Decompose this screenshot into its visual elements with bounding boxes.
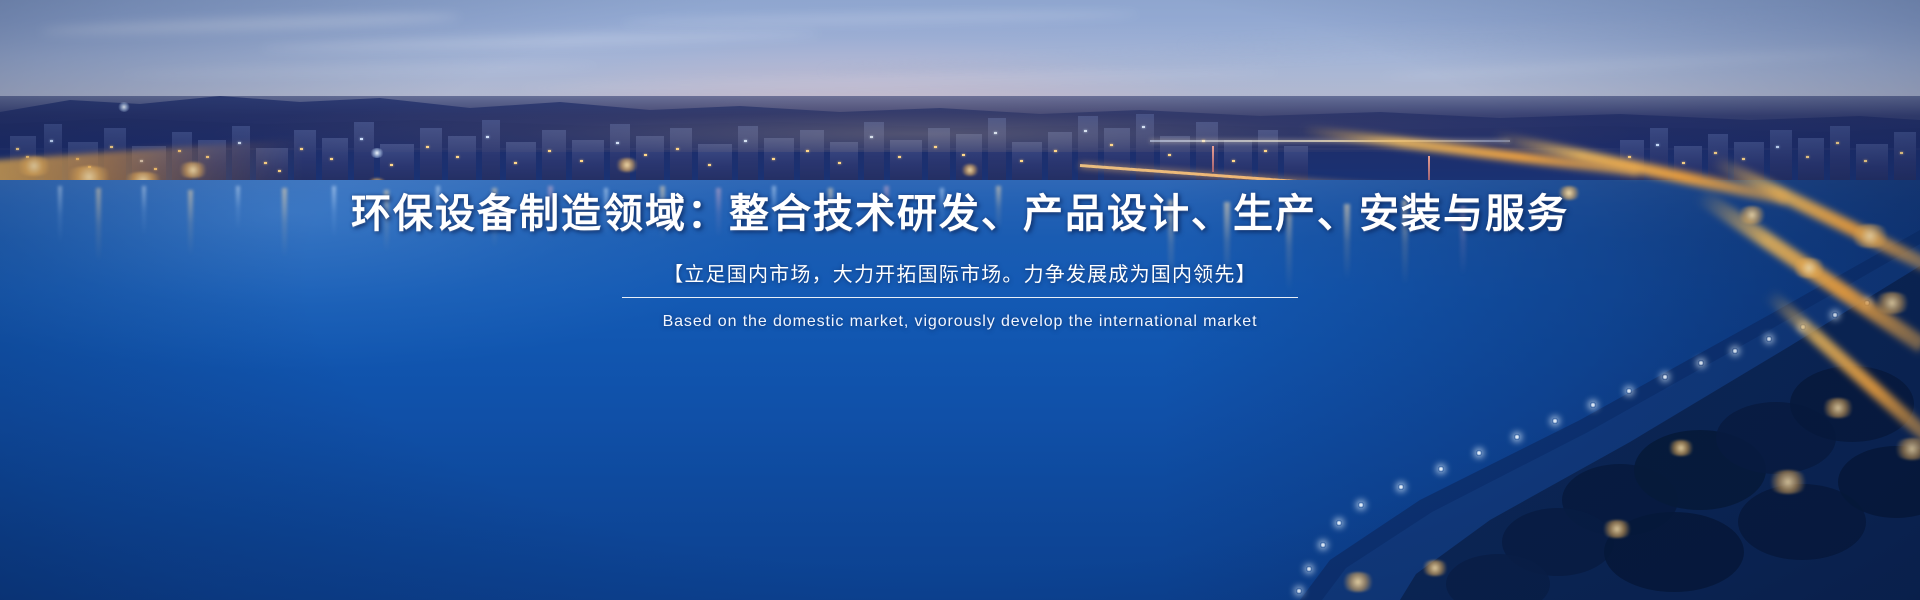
promenade-lamp bbox=[1552, 418, 1558, 424]
water-reflection bbox=[996, 186, 1001, 230]
promenade-lamp bbox=[1662, 374, 1668, 380]
light-flare bbox=[1600, 520, 1634, 538]
light-flare bbox=[1872, 292, 1912, 314]
hero-banner: 环保设备制造领域：整合技术研发、产品设计、生产、安装与服务 【立足国内市场，大力… bbox=[0, 0, 1920, 600]
water-reflection bbox=[188, 190, 193, 256]
promenade-lamp bbox=[1698, 360, 1704, 366]
light-flare bbox=[1766, 470, 1810, 494]
water-reflection bbox=[436, 186, 440, 232]
promenade-lamp bbox=[1438, 466, 1444, 472]
promenade-lamp bbox=[1766, 336, 1772, 342]
promenade-lamp bbox=[1296, 588, 1302, 594]
light-flare bbox=[370, 148, 384, 158]
water-reflection bbox=[828, 188, 833, 236]
promenade-lamp bbox=[1626, 388, 1632, 394]
light-flare bbox=[960, 164, 980, 176]
light-flare bbox=[1736, 206, 1768, 224]
water-reflection bbox=[142, 186, 146, 236]
water-reflection bbox=[660, 186, 665, 240]
water-reflection bbox=[96, 188, 101, 262]
light-flare bbox=[1820, 398, 1856, 418]
water-reflection bbox=[282, 188, 287, 258]
light-flare bbox=[118, 102, 130, 112]
promenade-lamp bbox=[1732, 348, 1738, 354]
water-reflection bbox=[772, 186, 776, 230]
promenade-lamp bbox=[1398, 484, 1404, 490]
promenade-lamp bbox=[1306, 566, 1312, 572]
light-flare bbox=[614, 158, 640, 172]
promenade-lamp bbox=[1358, 502, 1364, 508]
promenade-lamp bbox=[1514, 434, 1520, 440]
light-flare bbox=[14, 156, 54, 176]
promenade-lamp bbox=[1590, 402, 1596, 408]
water-reflection bbox=[884, 186, 889, 228]
water-reflection bbox=[384, 190, 389, 252]
light-flare bbox=[1340, 572, 1376, 592]
waterfront-peninsula bbox=[1060, 170, 1920, 600]
light-flare bbox=[176, 162, 210, 178]
light-flare bbox=[1420, 560, 1450, 576]
water-reflection bbox=[492, 188, 497, 248]
promenade-lamp bbox=[1336, 520, 1342, 526]
water-reflection bbox=[716, 188, 721, 238]
water-reflection bbox=[548, 186, 553, 242]
water-reflection bbox=[940, 188, 944, 228]
light-flare bbox=[1790, 258, 1828, 278]
light-flare bbox=[1848, 224, 1892, 248]
light-flare bbox=[1556, 186, 1582, 200]
water-reflection bbox=[332, 186, 336, 238]
promenade-lamp bbox=[1832, 312, 1838, 318]
promenade-lamp bbox=[1320, 542, 1326, 548]
bridge-pylon bbox=[1212, 146, 1214, 172]
water-reflection bbox=[58, 186, 62, 244]
light-flare bbox=[1666, 440, 1696, 456]
water-reflection bbox=[604, 188, 608, 236]
promenade-lamp bbox=[1476, 450, 1482, 456]
water-reflection bbox=[236, 186, 240, 230]
